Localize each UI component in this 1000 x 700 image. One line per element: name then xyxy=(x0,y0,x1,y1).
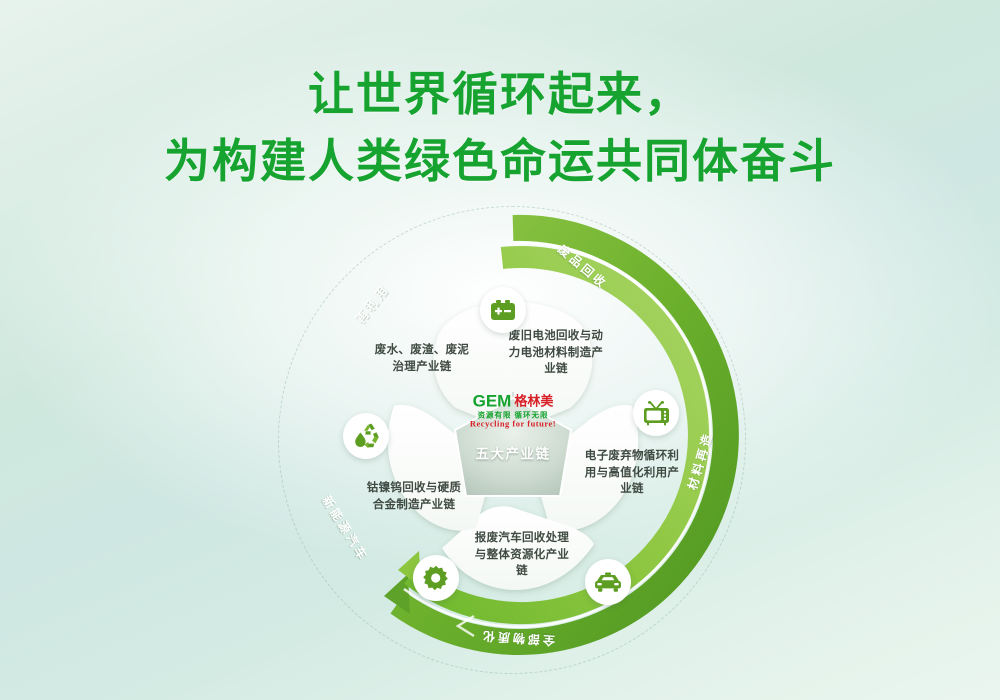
gear-icon-bubble xyxy=(413,555,459,601)
tv-icon-bubble xyxy=(633,390,679,436)
battery-icon xyxy=(490,299,516,321)
title-line-2: 为构建人类绿色命运共同体奋斗 xyxy=(0,132,1000,191)
circular-value-chain-diagram: GEM 格林美 资源有限 循环无限 Recycling for future! … xyxy=(288,210,738,670)
tv-icon xyxy=(643,401,670,426)
poster-canvas: 让世界循环起来， 为构建人类绿色命运共同体奋斗 xyxy=(0,0,1000,700)
car-icon-bubble xyxy=(585,559,631,605)
recycle-drop-icon-bubble xyxy=(343,413,389,459)
logo-brand-latin: GEM xyxy=(473,392,512,409)
center-hub: GEM 格林美 资源有限 循环无限 Recycling for future! … xyxy=(458,378,568,483)
logo-slogan-en: Recycling for future! xyxy=(465,420,561,429)
recycle-drop-icon xyxy=(352,423,380,449)
title-line-1: 让世界循环起来， xyxy=(0,65,1000,124)
gear-icon xyxy=(423,565,449,591)
car-icon xyxy=(594,572,622,593)
battery-icon-bubble xyxy=(480,287,526,333)
page-title: 让世界循环起来， 为构建人类绿色命运共同体奋斗 xyxy=(0,65,1000,191)
gem-logo: GEM 格林美 资源有限 循环无限 Recycling for future! xyxy=(465,392,561,428)
hub-caption: 五大产业链 xyxy=(476,442,551,462)
logo-slogan-cn: 资源有限 循环无限 xyxy=(465,411,561,419)
logo-brand-cn: 格林美 xyxy=(514,394,553,407)
